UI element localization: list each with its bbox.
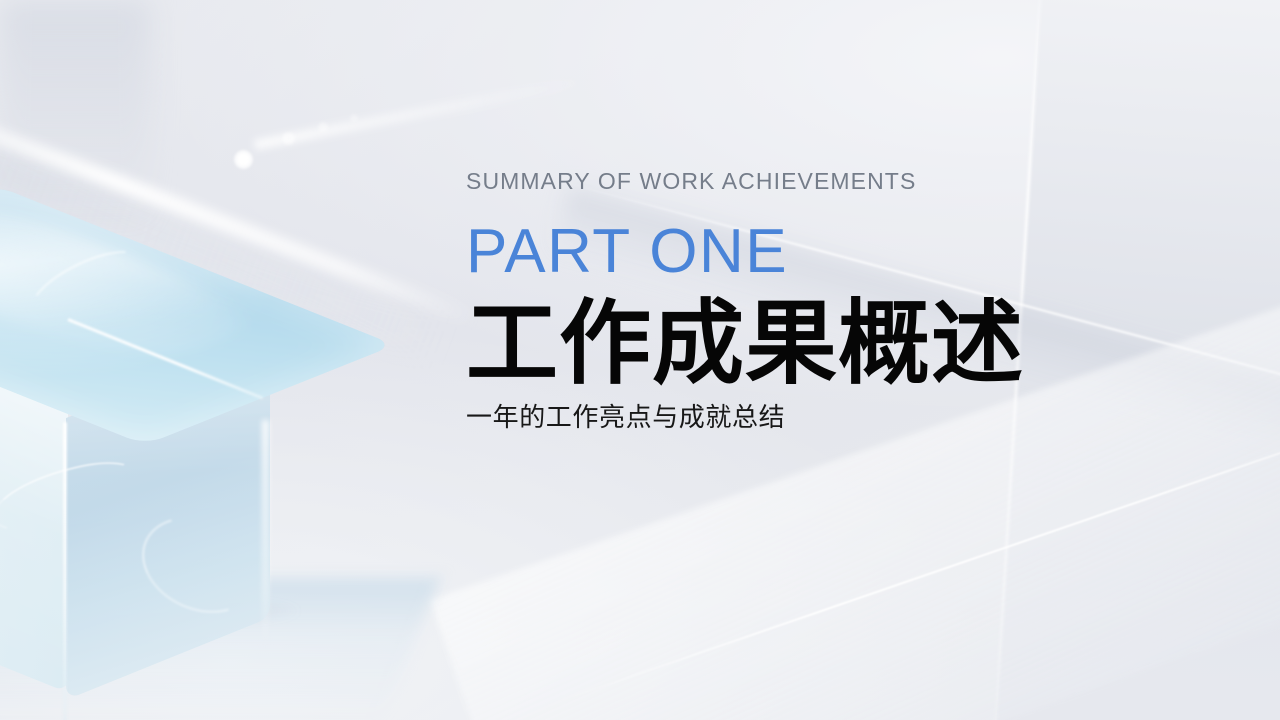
slide-main-title: 工作成果概述: [466, 297, 1226, 391]
light-bokeh-dot-small: [282, 132, 295, 145]
cube-edge-front: [63, 422, 67, 720]
light-bokeh-dot-small: [318, 122, 328, 132]
presentation-slide: SUMMARY OF WORK ACHIEVEMENTS PART ONE 工作…: [0, 0, 1280, 720]
slide-eyebrow: SUMMARY OF WORK ACHIEVEMENTS: [466, 168, 1226, 195]
light-bokeh-dot: [234, 150, 253, 169]
light-bokeh-dot-small: [350, 114, 358, 122]
cube-rim-highlight-right: [262, 420, 269, 650]
slide-part-label: PART ONE: [466, 221, 1226, 283]
slide-text-block: SUMMARY OF WORK ACHIEVEMENTS PART ONE 工作…: [466, 168, 1226, 434]
slide-sub-title: 一年的工作亮点与成就总结: [466, 403, 1226, 434]
glass-cube: [0, 170, 430, 650]
